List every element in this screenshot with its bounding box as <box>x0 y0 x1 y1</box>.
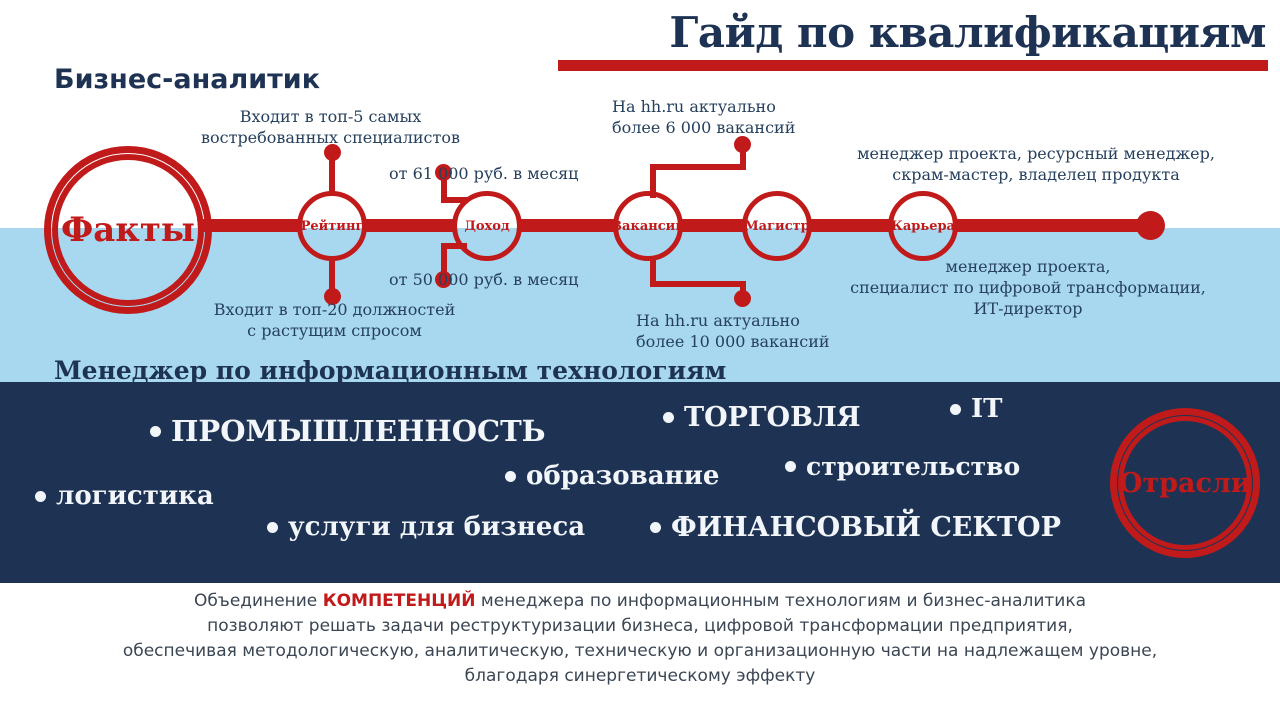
bullet-dot-icon <box>505 471 516 482</box>
industry-item-finance[interactable]: ФИНАНСОВЫЙ СЕКТОР <box>650 512 1061 543</box>
industry-item-trade[interactable]: ТОРГОВЛЯ <box>663 402 861 433</box>
footer-line-1: Объединение КОМПЕТЕНЦИЙ менеджера по инф… <box>0 589 1280 614</box>
footer-line-1-b: менеджера по информационным технологиям … <box>475 591 1086 611</box>
industry-item-b2b-label: услуги для бизнеса <box>288 512 585 542</box>
bullet-dot-icon <box>150 426 161 437</box>
annotation-income-bottom: от 50 000 руб. в месяц <box>389 269 629 290</box>
page-title: Гайд по квалификациям <box>669 8 1266 57</box>
industry-item-education-label: образование <box>526 461 719 491</box>
vacancies-connector-up-arm <box>650 164 746 170</box>
vacancies-connector-down-dot <box>734 290 751 307</box>
industry-item-b2b[interactable]: услуги для бизнеса <box>267 512 585 542</box>
annotation-income-top: от 61 000 руб. в месяц <box>389 163 629 184</box>
timeline-node-master[interactable]: Магистр <box>742 191 812 261</box>
industry-item-education[interactable]: образование <box>505 461 719 491</box>
industry-item-logistics[interactable]: логистика <box>35 481 214 511</box>
timeline-node-income[interactable]: Доход <box>452 191 522 261</box>
industry-item-construction[interactable]: строительство <box>785 452 1020 481</box>
bullet-dot-icon <box>785 461 796 472</box>
annotation-career-top: менеджер проекта, ресурсный менеджер, ск… <box>826 143 1246 185</box>
industry-item-trade-label: ТОРГОВЛЯ <box>684 402 861 433</box>
footer-paragraph: Объединение КОМПЕТЕНЦИЙ менеджера по инф… <box>0 589 1280 690</box>
industry-item-industry-label: ПРОМЫШЛЕННОСТЬ <box>171 414 546 448</box>
industries-badge-label: Отрасли <box>1100 468 1270 499</box>
footer-line-4: благодаря синергетическому эффекту <box>0 664 1280 689</box>
title-underline-bar <box>558 60 1268 71</box>
industry-item-industry[interactable]: ПРОМЫШЛЕННОСТЬ <box>150 414 546 448</box>
vacancies-connector-up-dot <box>734 136 751 153</box>
annotation-vacancies-top: На hh.ru актуально более 6 000 вакансий <box>612 96 862 138</box>
bullet-dot-icon <box>663 412 674 423</box>
timeline-end-dot <box>1136 211 1165 240</box>
industry-item-finance-label: ФИНАНСОВЫЙ СЕКТОР <box>671 512 1061 543</box>
industry-item-logistics-label: логистика <box>56 481 214 511</box>
timeline-node-rating[interactable]: Рейтинг <box>297 191 367 261</box>
timeline-node-career-label: Карьера <box>891 220 955 233</box>
footer-line-2: позволяют решать задачи реструктуризации… <box>0 614 1280 639</box>
subtitle-it-manager: Менеджер по информационным технологиям <box>54 356 726 385</box>
timeline-node-rating-label: Рейтинг <box>301 220 364 233</box>
annotation-rating-top: Входит в топ-5 самых востребованных спец… <box>178 106 483 148</box>
bullet-dot-icon <box>650 522 661 533</box>
bullet-dot-icon <box>35 491 46 502</box>
subtitle-business-analyst: Бизнес-аналитик <box>54 64 320 95</box>
footer-line-3: обеспечивая методологическую, аналитичес… <box>0 639 1280 664</box>
timeline-node-master-label: Магистр <box>744 220 809 233</box>
timeline-node-income-label: Доход <box>464 220 509 233</box>
facts-inner-ring <box>52 154 204 306</box>
industry-item-construction-label: строительство <box>806 452 1020 481</box>
annotation-rating-bottom: Входит в топ-20 должностей с растущим сп… <box>182 299 487 341</box>
industry-item-it[interactable]: IT <box>950 394 1003 424</box>
infographic-canvas: Гайд по квалификациям Бизнес-аналитик Ме… <box>0 0 1280 720</box>
industry-item-it-label: IT <box>971 394 1003 424</box>
annotation-career-bottom: менеджер проекта, специалист по цифровой… <box>818 256 1238 319</box>
bullet-dot-icon <box>950 404 961 415</box>
footer-line-1-a: Объединение <box>194 591 323 611</box>
footer-highlight-competencies: КОМПЕТЕНЦИЙ <box>323 591 476 611</box>
vacancies-connector-down-arm <box>650 281 746 287</box>
timeline-node-career[interactable]: Карьера <box>888 191 958 261</box>
bullet-dot-icon <box>267 522 278 533</box>
timeline-node-vacancies[interactable]: Вакансии <box>613 191 683 261</box>
timeline-node-vacancies-label: Вакансии <box>611 220 685 233</box>
